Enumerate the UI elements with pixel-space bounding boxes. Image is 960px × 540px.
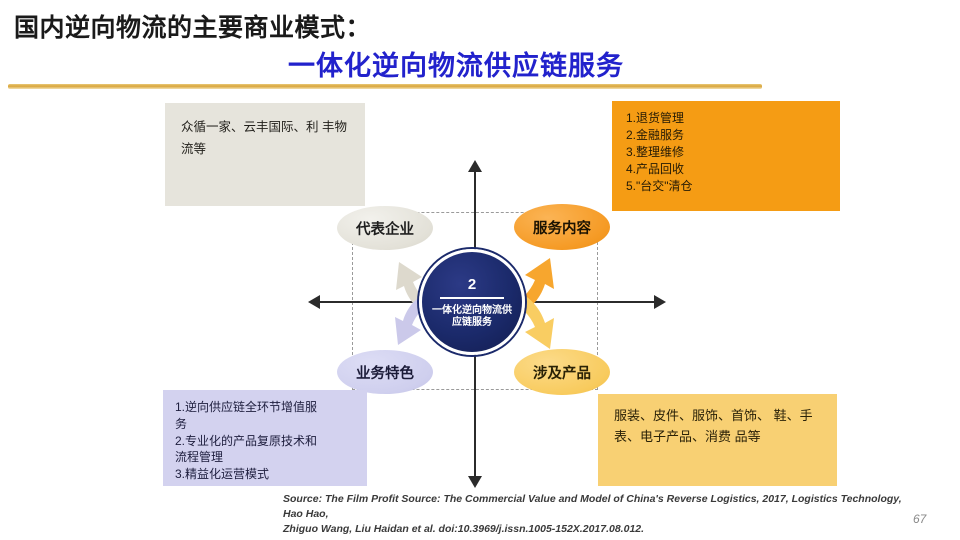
quadrant-oval-label: 业务特色 — [356, 362, 414, 383]
content-line: 品等 — [735, 429, 761, 444]
center-node-label: 一体化逆向物流供应链服务 — [429, 305, 515, 330]
title-divider-rule — [8, 84, 762, 89]
content-line: 3.精益化运营模式 — [175, 466, 355, 483]
content-line: 1.退货管理 — [626, 110, 826, 127]
source-citation: Source: The Film Profit Source: The Comm… — [283, 492, 923, 538]
content-line: 服装、皮件、服饰、首饰、 — [614, 408, 770, 423]
content-line: 3.整理维修 — [626, 144, 826, 161]
content-line: 1.逆向供应链全环节增值服 — [175, 399, 355, 416]
content-box-service-content: 1.退货管理 2.金融服务 3.整理维修 4.产品回收 5."台交"清仓 — [612, 101, 840, 211]
content-line: 2.金融服务 — [626, 127, 826, 144]
axis-arrow-down-icon — [468, 476, 482, 488]
content-line: 2.专业化的产品复原技术和 — [175, 433, 355, 450]
content-line: 5."台交"清仓 — [626, 178, 826, 195]
content-line: 4.产品回收 — [626, 161, 826, 178]
axis-arrow-up-icon — [468, 160, 482, 172]
page-number: 67 — [913, 512, 926, 526]
center-node: 2 一体化逆向物流供应链服务 — [419, 249, 525, 355]
page-title: 国内逆向物流的主要商业模式： — [14, 8, 371, 44]
page-subtitle: 一体化逆向物流供应链服务 — [288, 44, 624, 83]
content-line: 众循一家、云丰国际、利 — [181, 120, 319, 134]
slide-canvas: 国内逆向物流的主要商业模式： 一体化逆向物流供应链服务 2 一体化逆向物流供应链… — [0, 0, 960, 540]
source-citation-line-1: Source: The Film Profit Source: The Comm… — [283, 492, 923, 522]
axis-arrow-right-icon — [654, 295, 666, 309]
content-box-representative-enterprises: 众循一家、云丰国际、利 丰物流等 — [165, 103, 365, 206]
quadrant-oval-representative-enterprises[interactable]: 代表企业 — [337, 206, 433, 250]
quadrant-oval-business-features[interactable]: 业务特色 — [337, 350, 433, 394]
source-citation-line-2: Zhiguo Wang, Liu Haidan et al. doi:10.39… — [283, 522, 923, 537]
content-box-business-features: 1.逆向供应链全环节增值服 务 2.专业化的产品复原技术和 流程管理 3.精益化… — [163, 390, 367, 486]
content-line: 务 — [175, 416, 355, 433]
content-box-products-involved: 服装、皮件、服饰、首饰、 鞋、手表、电子产品、消费 品等 — [598, 394, 837, 486]
quadrant-oval-label: 涉及产品 — [533, 362, 591, 383]
quadrant-oval-service-content[interactable]: 服务内容 — [514, 204, 610, 250]
center-node-divider — [440, 297, 504, 299]
content-line: 流程管理 — [175, 449, 355, 466]
axis-arrow-left-icon — [308, 295, 320, 309]
quadrant-oval-label: 服务内容 — [533, 217, 591, 238]
center-node-number: 2 — [468, 277, 476, 292]
quadrant-oval-label: 代表企业 — [356, 218, 414, 239]
quadrant-oval-products-involved[interactable]: 涉及产品 — [514, 349, 610, 395]
